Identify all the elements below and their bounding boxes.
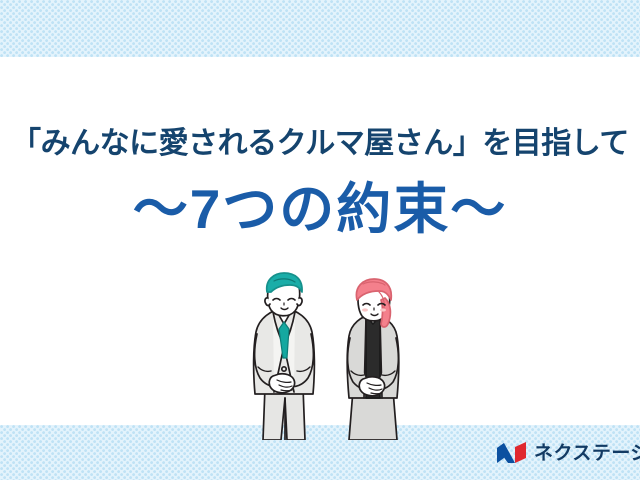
female-staff-figure (347, 279, 399, 440)
headline-secondary: 〜7つの約束〜 (0, 176, 640, 242)
male-staff-figure (254, 273, 315, 440)
headline-primary: 「みんなに愛されるクルマ屋さん」を目指して (0, 126, 640, 162)
nextage-logo-text: ネクステージ (534, 444, 640, 463)
nextage-n-mark-icon (497, 442, 527, 464)
two-bowing-staff-illustration (243, 272, 417, 440)
nextage-logo: ネクステージ (497, 438, 640, 468)
top-dotted-band (0, 0, 640, 57)
banner-canvas: 「みんなに愛されるクルマ屋さん」を目指して 〜7つの約束〜 (0, 0, 640, 480)
